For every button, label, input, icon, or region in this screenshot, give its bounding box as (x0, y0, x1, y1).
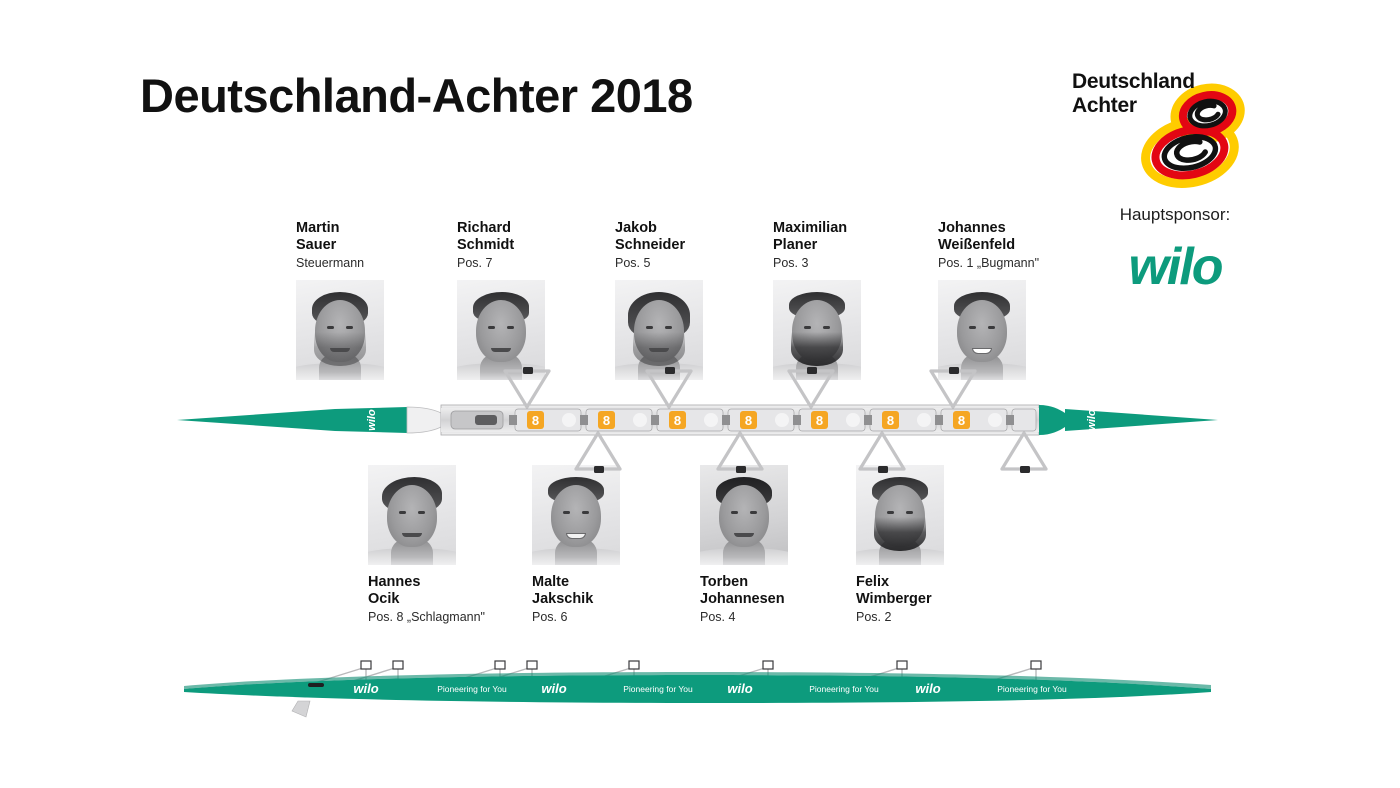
svg-text:wilo: wilo (541, 681, 566, 696)
athlete-position: Pos. 3 (773, 256, 933, 271)
boat-stern-wilo-text: wilo (1086, 409, 1098, 431)
svg-text:8: 8 (745, 413, 752, 428)
svg-text:8: 8 (887, 413, 894, 428)
athlete-card: Felix Wimberger Pos. 2 (856, 465, 1016, 625)
athlete-position: Steuermann (296, 256, 456, 271)
athlete-name-block: Johannes Weißenfeld Pos. 1 „Bugmann" (938, 220, 1098, 271)
athlete-card: Richard Schmidt Pos. 7 (457, 220, 617, 380)
athlete-first-name: Torben (700, 574, 860, 591)
athlete-name-block: Richard Schmidt Pos. 7 (457, 220, 617, 271)
athlete-name-block: Maximilian Planer Pos. 3 (773, 220, 933, 271)
athlete-name-block: Malte Jakschik Pos. 6 (532, 574, 692, 625)
portrait-felix-wimberger (856, 465, 944, 565)
athlete-position: Pos. 5 (615, 256, 775, 271)
athlete-position: Pos. 6 (532, 610, 692, 625)
rower-seats: 8 8 8 8 (509, 409, 1036, 431)
portrait-torben-johannesen (700, 465, 788, 565)
svg-text:8: 8 (674, 413, 681, 428)
side-fin (292, 701, 310, 717)
svg-text:wilo: wilo (915, 681, 940, 696)
athlete-card: Torben Johannesen Pos. 4 (700, 465, 860, 625)
athlete-name-block: Hannes Ocik Pos. 8 „Schlagmann" (368, 574, 528, 625)
svg-text:wilo: wilo (353, 681, 378, 696)
svg-text:Pioneering for You: Pioneering for You (437, 684, 507, 694)
athlete-position: Pos. 1 „Bugmann" (938, 256, 1098, 271)
athlete-name-block: Felix Wimberger Pos. 2 (856, 574, 1016, 625)
svg-text:8: 8 (816, 413, 823, 428)
athlete-name-block: Jakob Schneider Pos. 5 (615, 220, 775, 271)
athlete-last-name: Wimberger (856, 591, 1016, 608)
athlete-last-name: Weißenfeld (938, 237, 1098, 254)
athlete-first-name: Hannes (368, 574, 528, 591)
athlete-card: Martin Sauer Steuermann (296, 220, 456, 380)
athlete-first-name: Maximilian (773, 220, 933, 237)
athlete-name-block: Torben Johannesen Pos. 4 (700, 574, 860, 625)
portrait-malte-jakschik (532, 465, 620, 565)
brand-logo-text: Deutschland Achter (1072, 70, 1195, 117)
svg-text:8: 8 (603, 413, 610, 428)
svg-text:Pioneering for You: Pioneering for You (809, 684, 879, 694)
athlete-card: Hannes Ocik Pos. 8 „Schlagmann" (368, 465, 528, 625)
athlete-card: Jakob Schneider Pos. 5 (615, 220, 775, 380)
athlete-last-name: Schmidt (457, 237, 617, 254)
athlete-position: Pos. 2 (856, 610, 1016, 625)
poster-stage: Deutschland-Achter 2018 Deutschland Acht… (0, 0, 1400, 788)
athlete-first-name: Malte (532, 574, 692, 591)
portrait-hannes-ocik (368, 465, 456, 565)
athlete-position: Pos. 4 (700, 610, 860, 625)
athlete-first-name: Johannes (938, 220, 1098, 237)
athlete-first-name: Felix (856, 574, 1016, 591)
brand-logo: Deutschland Achter (1072, 70, 1272, 180)
athlete-last-name: Planer (773, 237, 933, 254)
athlete-position: Pos. 8 „Schlagmann" (368, 610, 528, 625)
svg-text:Pioneering for You: Pioneering for You (997, 684, 1067, 694)
svg-text:8: 8 (958, 413, 965, 428)
athlete-name-block: Martin Sauer Steuermann (296, 220, 456, 271)
page-title: Deutschland-Achter 2018 (140, 68, 693, 123)
athlete-last-name: Sauer (296, 237, 456, 254)
athlete-last-name: Ocik (368, 591, 528, 608)
athlete-last-name: Johannesen (700, 591, 860, 608)
boat-side-view: wilo Pioneering for You wilo Pioneering … (180, 645, 1215, 710)
athlete-position: Pos. 7 (457, 256, 617, 271)
athlete-first-name: Martin (296, 220, 456, 237)
svg-text:Pioneering for You: Pioneering for You (623, 684, 693, 694)
athlete-last-name: Jakschik (532, 591, 692, 608)
brand-logo-line2: Achter (1072, 94, 1195, 118)
athlete-card: Johannes Weißenfeld Pos. 1 „Bugmann" (938, 220, 1098, 380)
athlete-card: Maximilian Planer Pos. 3 (773, 220, 933, 380)
boat-top-view: wilo wilo 8 8 (175, 365, 1220, 475)
athlete-last-name: Schneider (615, 237, 775, 254)
boat-bow-wilo-text: wilo (366, 409, 378, 431)
athlete-first-name: Richard (457, 220, 617, 237)
svg-text:8: 8 (532, 413, 539, 428)
brand-logo-line1: Deutschland (1072, 70, 1195, 94)
boat-bow (177, 409, 335, 431)
athlete-card: Malte Jakschik Pos. 6 (532, 465, 692, 625)
svg-text:wilo: wilo (727, 681, 752, 696)
side-rigger-pins (361, 661, 1041, 669)
athlete-first-name: Jakob (615, 220, 775, 237)
